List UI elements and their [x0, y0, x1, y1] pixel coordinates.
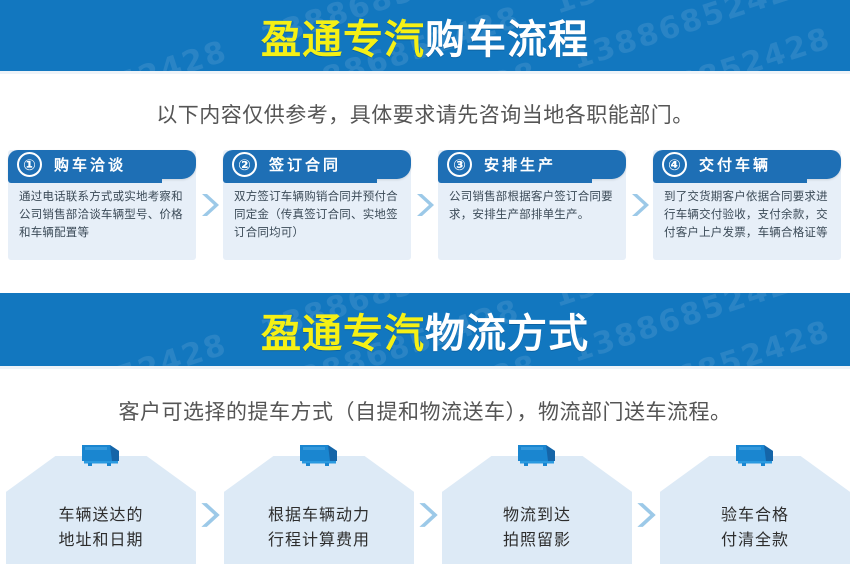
- step-card-header: ② 签订合同: [223, 150, 411, 179]
- logistics-stage-line2: 付清全款: [660, 528, 850, 553]
- brand-name-text: 盈通专汽: [261, 312, 425, 356]
- purchase-flow-banner-title: 盈通专汽购车流程: [261, 7, 589, 65]
- step-title: 交付车辆: [699, 154, 771, 175]
- step-title: 签订合同: [269, 154, 341, 175]
- logistics-stage-box[interactable]: 验车合格 付清全款: [660, 442, 850, 564]
- logistics-stage-line1: 根据车辆动力: [224, 503, 414, 528]
- step-title: 安排生产: [484, 154, 556, 175]
- purchase-flow-banner: 13886852428 13886852428 13886852428 1388…: [0, 0, 850, 74]
- delivery-truck-icon: [297, 442, 341, 473]
- step-description: 通过电话联系方式或实地考察和公司销售部洽谈车辆型号、价格和车辆配置等: [8, 179, 196, 242]
- logistics-banner-title: 盈通专汽物流方式: [261, 301, 589, 359]
- logistics-stage-2[interactable]: 根据车辆动力 行程计算费用: [224, 442, 442, 564]
- step-card-header: ④ 交付车辆: [653, 150, 841, 179]
- step-card[interactable]: ① 购车洽谈 通过电话联系方式或实地考察和公司销售部洽谈车辆型号、价格和车辆配置…: [8, 150, 196, 260]
- logistics-stage-line1: 验车合格: [660, 503, 850, 528]
- step-number-badge: ①: [17, 152, 42, 177]
- logistics-stage-3[interactable]: 物流到达 拍照留影: [442, 442, 660, 564]
- chevron-right-icon: [196, 150, 223, 260]
- logistics-stage-box[interactable]: 车辆送达的 地址和日期: [6, 442, 196, 564]
- logistics-stage-line2: 地址和日期: [6, 528, 196, 553]
- chevron-right-icon: [626, 150, 653, 260]
- brand-name-text: 盈通专汽: [261, 18, 425, 62]
- step-card[interactable]: ④ 交付车辆 到了交货期客户依据合同要求进行车辆交付验收，支付余款，交付客户上户…: [653, 150, 841, 260]
- delivery-truck-icon: [733, 442, 777, 473]
- step-card-header: ③ 安排生产: [438, 150, 626, 179]
- purchase-flow-banner-suffix: 购车流程: [425, 18, 589, 62]
- logistics-banner: 13886852428 13886852428 13886852428 1388…: [0, 293, 850, 369]
- step-number-badge: ③: [447, 152, 472, 177]
- logistics-stage-box[interactable]: 物流到达 拍照留影: [442, 442, 632, 564]
- step-number-badge: ④: [662, 152, 687, 177]
- logistics-stage-box[interactable]: 根据车辆动力 行程计算费用: [224, 442, 414, 564]
- step-description: 公司销售部根据客户签订合同要求，安排生产部排单生产。: [438, 179, 626, 224]
- delivery-truck-icon: [79, 442, 123, 473]
- logistics-stage-line2: 拍照留影: [442, 528, 632, 553]
- logistics-subtitle: 客户可选择的提车方式（自提和物流送车），物流部门送车流程。: [0, 369, 850, 426]
- logistics-stage-line2: 行程计算费用: [224, 528, 414, 553]
- delivery-truck-icon: [515, 442, 559, 473]
- logistics-stage-line1: 物流到达: [442, 503, 632, 528]
- step-description: 到了交货期客户依据合同要求进行车辆交付验收，支付余款，交付客户上户发票，车辆合格…: [653, 179, 841, 242]
- purchase-step-2[interactable]: ② 签订合同 双方签订车辆购销合同并预付合同定金（传真签订合同、实地签订合同均可…: [223, 150, 438, 260]
- step-description: 双方签订车辆购销合同并预付合同定金（传真签订合同、实地签订合同均可）: [223, 179, 411, 242]
- chevron-right-icon: [414, 442, 442, 564]
- purchase-step-4[interactable]: ④ 交付车辆 到了交货期客户依据合同要求进行车辆交付验收，支付余款，交付客户上户…: [653, 150, 841, 260]
- chevron-right-icon: [411, 150, 438, 260]
- logistics-stage-4[interactable]: 验车合格 付清全款: [660, 442, 850, 564]
- step-card-header: ① 购车洽谈: [8, 150, 196, 179]
- logistics-stages-row: 车辆送达的 地址和日期: [0, 442, 850, 564]
- step-card[interactable]: ② 签订合同 双方签订车辆购销合同并预付合同定金（传真签订合同、实地签订合同均可…: [223, 150, 411, 260]
- purchase-step-1[interactable]: ① 购车洽谈 通过电话联系方式或实地考察和公司销售部洽谈车辆型号、价格和车辆配置…: [8, 150, 223, 260]
- chevron-right-icon: [632, 442, 660, 564]
- step-number-badge: ②: [232, 152, 257, 177]
- step-card[interactable]: ③ 安排生产 公司销售部根据客户签订合同要求，安排生产部排单生产。: [438, 150, 626, 260]
- chevron-right-icon: [196, 442, 224, 564]
- logistics-banner-suffix: 物流方式: [425, 312, 589, 356]
- step-title: 购车洽谈: [54, 154, 126, 175]
- purchase-steps-row: ① 购车洽谈 通过电话联系方式或实地考察和公司销售部洽谈车辆型号、价格和车辆配置…: [0, 150, 850, 270]
- logistics-stage-line1: 车辆送达的: [6, 503, 196, 528]
- purchase-flow-subtitle: 以下内容仅供参考，具体要求请先咨询当地各职能部门。: [0, 74, 850, 129]
- logistics-stage-1[interactable]: 车辆送达的 地址和日期: [6, 442, 224, 564]
- purchase-and-logistics-infographic: 13886852428 13886852428 13886852428 1388…: [0, 0, 850, 564]
- purchase-step-3[interactable]: ③ 安排生产 公司销售部根据客户签订合同要求，安排生产部排单生产。: [438, 150, 653, 260]
